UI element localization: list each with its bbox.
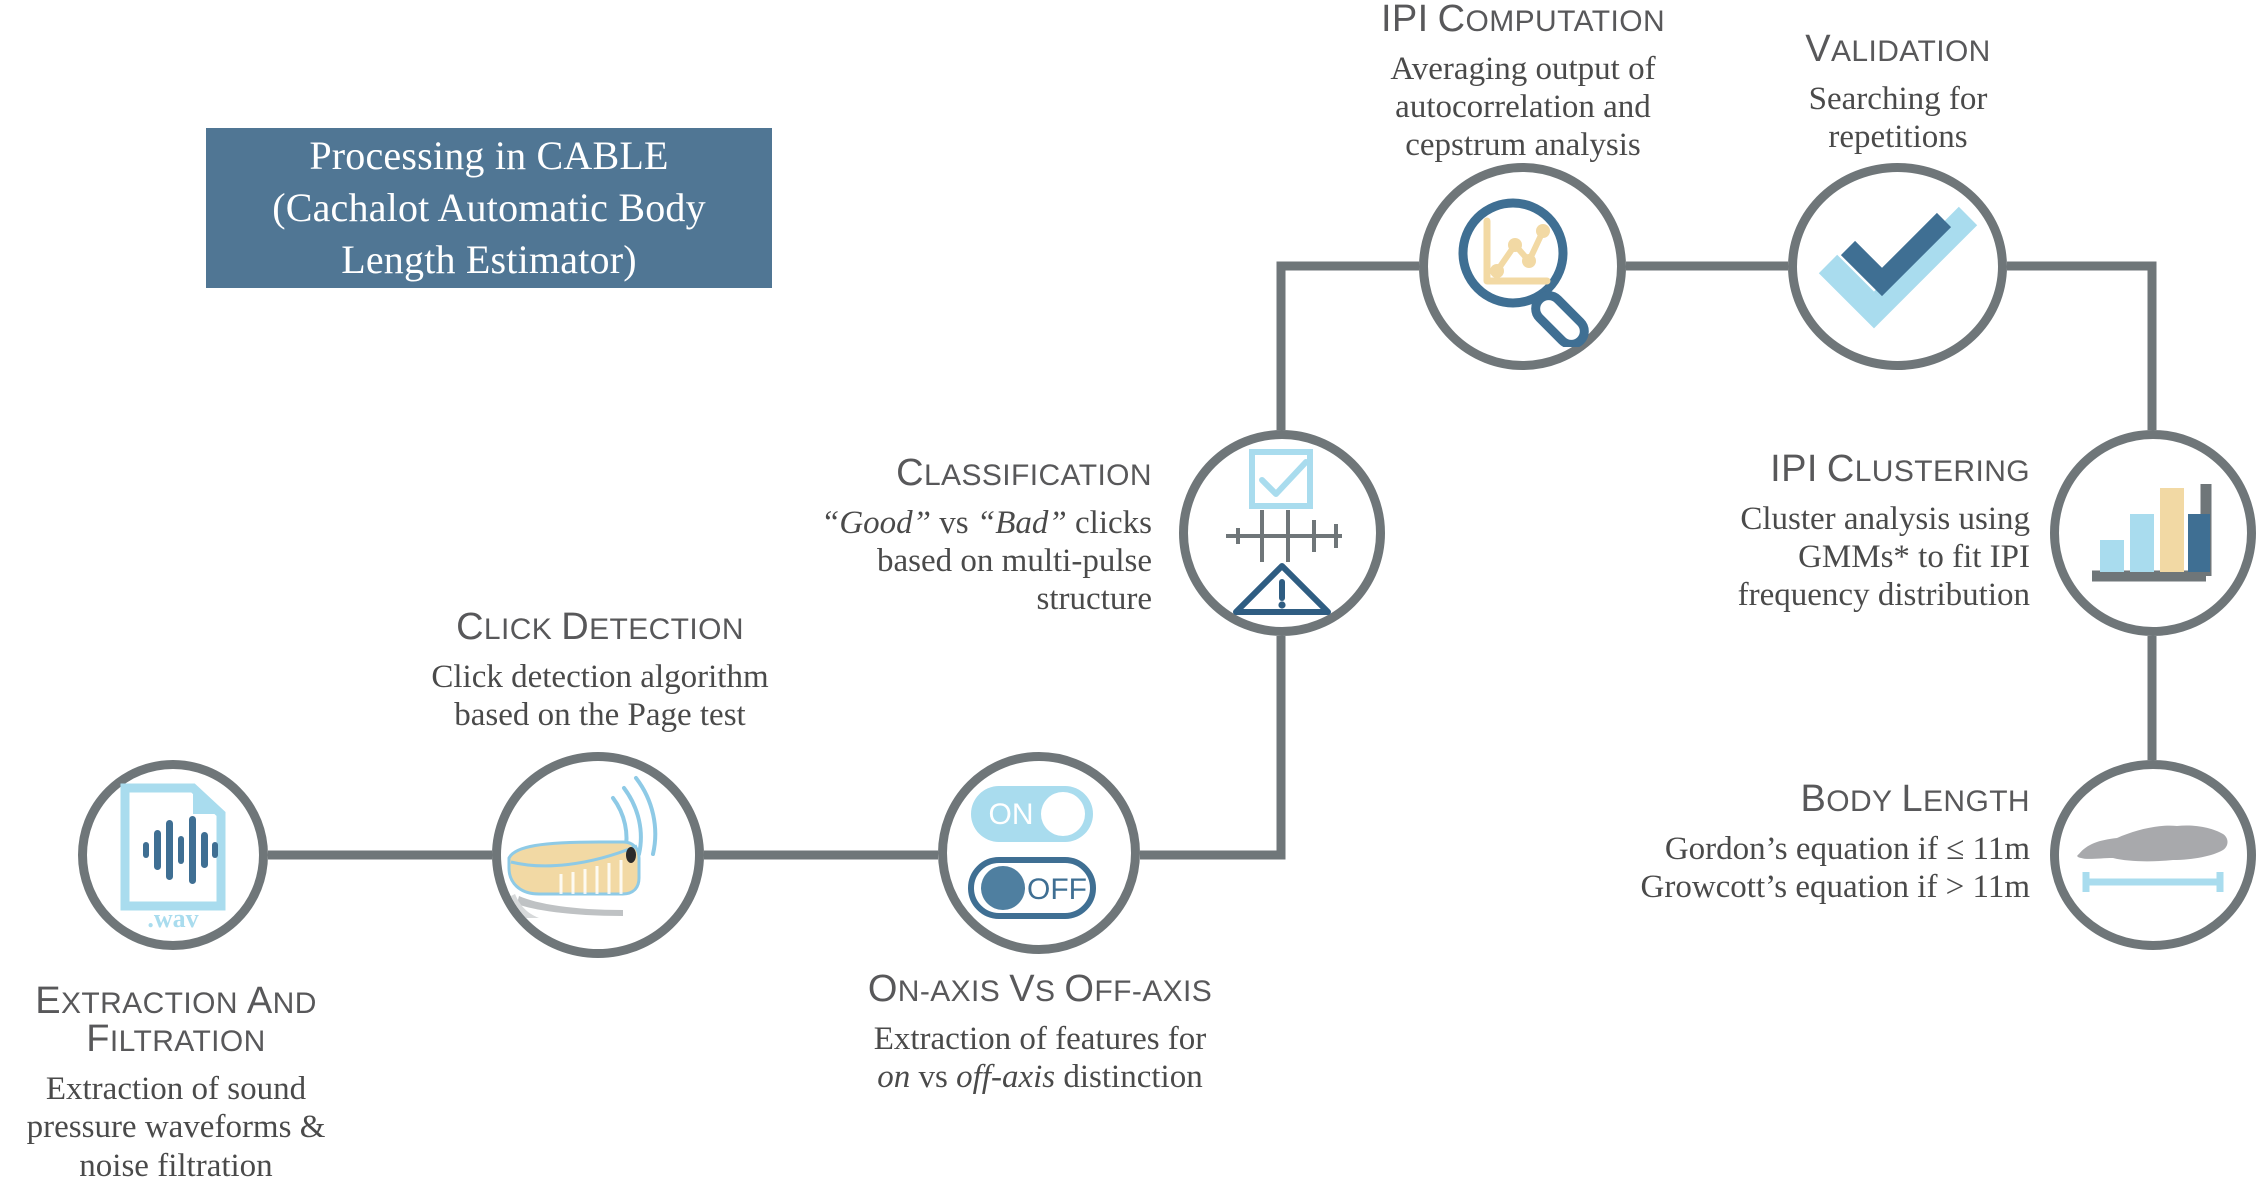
desc-body-length-2: Growcott’s equation if > 11m bbox=[1480, 868, 2030, 906]
node-ipi-clustering[interactable] bbox=[2050, 430, 2256, 636]
title-line-2: (Cachalot Automatic Body bbox=[272, 182, 706, 234]
label-body-length: BODY LENGTH Gordon’s equation if ≤ 11m G… bbox=[1480, 780, 2030, 906]
toggle-switches-icon: ON OFF bbox=[959, 778, 1119, 928]
checkbox-crosshair-warning-icon bbox=[1212, 448, 1352, 618]
desc-bad-quote: “Bad” bbox=[977, 505, 1067, 541]
desc-body-length-1: Gordon’s equation if ≤ 11m bbox=[1480, 830, 2030, 868]
desc-extraction-2: pressure waveforms & bbox=[0, 1108, 352, 1146]
heading-on-off-axis: ON-AXIS VS OFF-AXIS bbox=[868, 973, 1212, 1008]
desc-click-detection-2: based on the Page test bbox=[330, 696, 870, 734]
heading-validation: VALIDATION bbox=[1805, 33, 1991, 68]
label-on-axis-vs-off-axis: ON-AXIS VS OFF-AXIS Extraction of featur… bbox=[780, 970, 1300, 1096]
node-classification[interactable] bbox=[1179, 430, 1385, 636]
desc-on-off-axis-1: Extraction of features for bbox=[780, 1020, 1300, 1058]
wav-extension-label: .wav bbox=[147, 904, 198, 930]
bar-chart-icon bbox=[2078, 468, 2228, 598]
whale-sonar-icon bbox=[503, 762, 693, 948]
whale-measure-icon bbox=[2073, 800, 2233, 910]
toggle-on-label: ON bbox=[989, 798, 1034, 831]
desc-classification-3: structure bbox=[700, 580, 1152, 618]
node-on-axis-vs-off-axis[interactable]: ON OFF bbox=[938, 752, 1140, 954]
desc-click-detection-1: Click detection algorithm bbox=[330, 658, 870, 696]
desc-classification-1: “Good” vs “Bad” clicks bbox=[700, 504, 1152, 542]
desc-ipi-clustering-3: frequency distribution bbox=[1590, 576, 2030, 614]
desc-good-quote: “Good” bbox=[821, 505, 931, 541]
desc-italic-on: on bbox=[877, 1059, 910, 1095]
desc-ipi-clustering-1: Cluster analysis using bbox=[1590, 500, 2030, 538]
flowchart-canvas: Processing in CABLE (Cachalot Automatic … bbox=[0, 0, 2256, 1166]
toggle-on: ON bbox=[971, 786, 1093, 842]
node-click-detection[interactable] bbox=[492, 752, 704, 958]
label-extraction-and-filtration: EXTRACTION AND FILTRATION Extraction of … bbox=[0, 982, 352, 1185]
desc-validation-2: repetitions bbox=[1680, 118, 2116, 156]
desc-extraction-1: Extraction of sound bbox=[0, 1070, 352, 1108]
node-body-length[interactable] bbox=[2050, 760, 2256, 950]
magnifier-chart-icon bbox=[1443, 187, 1603, 347]
node-ipi-computation[interactable] bbox=[1419, 163, 1626, 370]
heading-classification: CLASSIFICATION bbox=[896, 457, 1152, 492]
title-line-3: Length Estimator) bbox=[272, 234, 706, 286]
heading-extraction-line1: EXTRACTION AND FILTRATION bbox=[35, 985, 317, 1058]
label-validation: VALIDATION Searching for repetitions bbox=[1680, 30, 2116, 156]
desc-classification-vs: vs bbox=[931, 505, 977, 541]
node-extraction-and-filtration[interactable]: .wav bbox=[78, 760, 268, 950]
heading-ipi-computation: IPI COMPUTATION bbox=[1381, 3, 1665, 38]
desc-ipi-clustering-2: GMMs* to fit IPI bbox=[1590, 538, 2030, 576]
label-ipi-clustering: IPI CLUSTERING Cluster analysis using GM… bbox=[1590, 450, 2030, 615]
label-click-detection: CLICK DETECTION Click detection algorith… bbox=[330, 608, 870, 734]
toggle-off-label: OFF bbox=[1027, 873, 1087, 906]
wav-file-icon: .wav bbox=[113, 780, 233, 930]
label-classification: CLASSIFICATION “Good” vs “Bad” clicks ba… bbox=[700, 454, 1152, 619]
double-check-icon bbox=[1818, 202, 1978, 332]
desc-classification-2: based on multi-pulse bbox=[700, 542, 1152, 580]
toggle-off: OFF bbox=[971, 860, 1093, 916]
heading-ipi-clustering: IPI CLUSTERING bbox=[1770, 453, 2030, 488]
title-line-1: Processing in CABLE bbox=[272, 130, 706, 182]
desc-clicks: clicks bbox=[1067, 505, 1152, 541]
heading-body-length: BODY LENGTH bbox=[1800, 783, 2030, 818]
desc-italic-offaxis: off-axis bbox=[956, 1059, 1055, 1095]
node-validation[interactable] bbox=[1788, 163, 2007, 370]
desc-vs: vs bbox=[910, 1059, 956, 1095]
desc-validation-1: Searching for bbox=[1680, 80, 2116, 118]
desc-on-off-axis-2: on vs off-axis distinction bbox=[780, 1058, 1300, 1096]
desc-distinction: distinction bbox=[1055, 1059, 1203, 1095]
title-banner: Processing in CABLE (Cachalot Automatic … bbox=[206, 128, 772, 288]
